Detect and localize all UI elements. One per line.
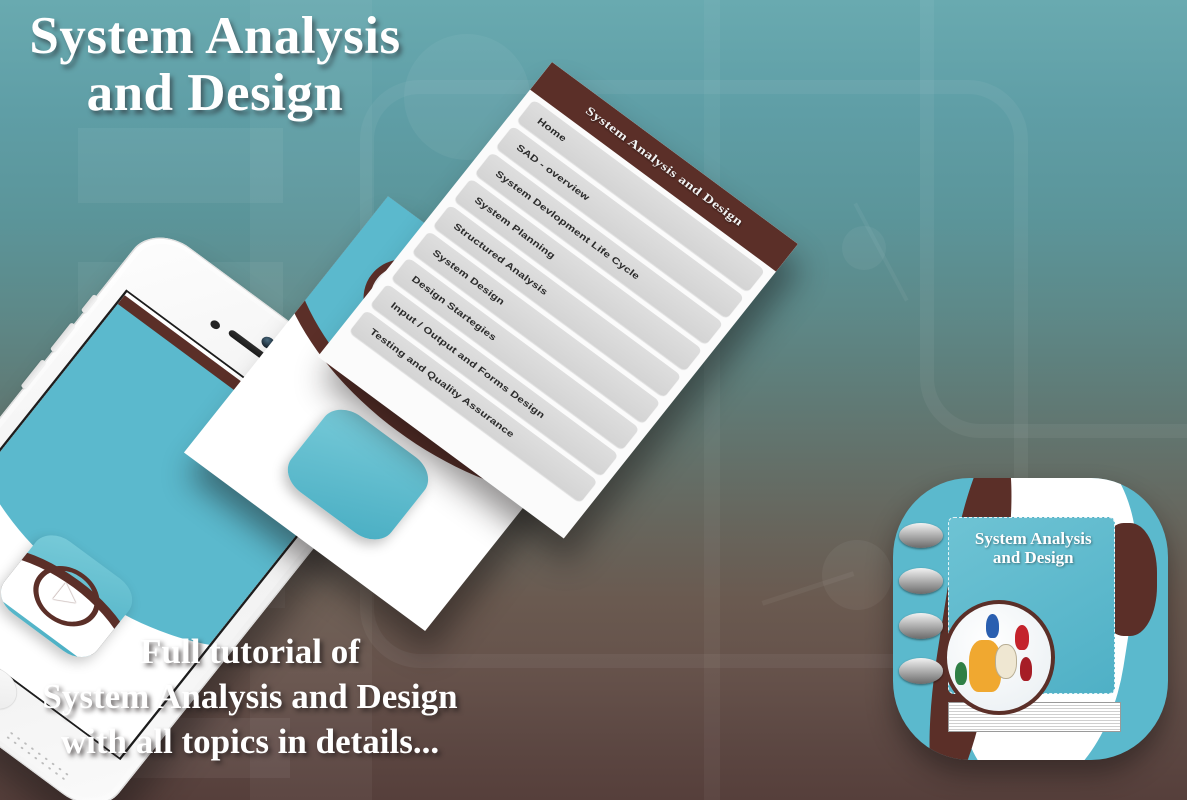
pin-blue-icon xyxy=(986,614,999,638)
menu-item-label: Home xyxy=(535,116,568,143)
tagline-line-3: with all topics in details... xyxy=(0,720,500,765)
binder-ring-4-icon xyxy=(899,658,943,683)
app-icon[interactable]: System Analysis and Design xyxy=(893,478,1168,760)
app-icon-title-line-2: and Design xyxy=(954,548,1114,568)
headline-line-1: System Analysis xyxy=(0,8,430,65)
binder-ring-2-icon xyxy=(899,568,943,593)
tagline-line-2: System Analysis and Design xyxy=(0,675,500,720)
app-icon-title: System Analysis and Design xyxy=(954,529,1114,568)
pin-red-icon xyxy=(1015,625,1029,650)
pin-white-icon xyxy=(995,644,1018,678)
headline-line-2: and Design xyxy=(0,65,430,122)
app-icon-magnifier-icon xyxy=(943,600,1056,715)
promo-banner: System Analysis and Design xyxy=(0,0,1187,800)
background-rect-1 xyxy=(78,128,283,203)
background-circle-2 xyxy=(822,540,892,610)
proximity-sensor-icon xyxy=(209,319,222,331)
tagline: Full tutorial of System Analysis and Des… xyxy=(0,630,500,764)
page-title: System Analysis and Design xyxy=(0,8,430,122)
pin-green-icon xyxy=(955,662,968,686)
background-rounded-rect-2 xyxy=(920,0,1187,438)
app-icon-title-line-1: System Analysis xyxy=(954,529,1114,549)
pin-red2-icon xyxy=(1020,657,1033,681)
tagline-line-1: Full tutorial of xyxy=(0,630,500,675)
binder-ring-3-icon xyxy=(899,613,943,638)
binder-ring-1-icon xyxy=(899,523,943,548)
